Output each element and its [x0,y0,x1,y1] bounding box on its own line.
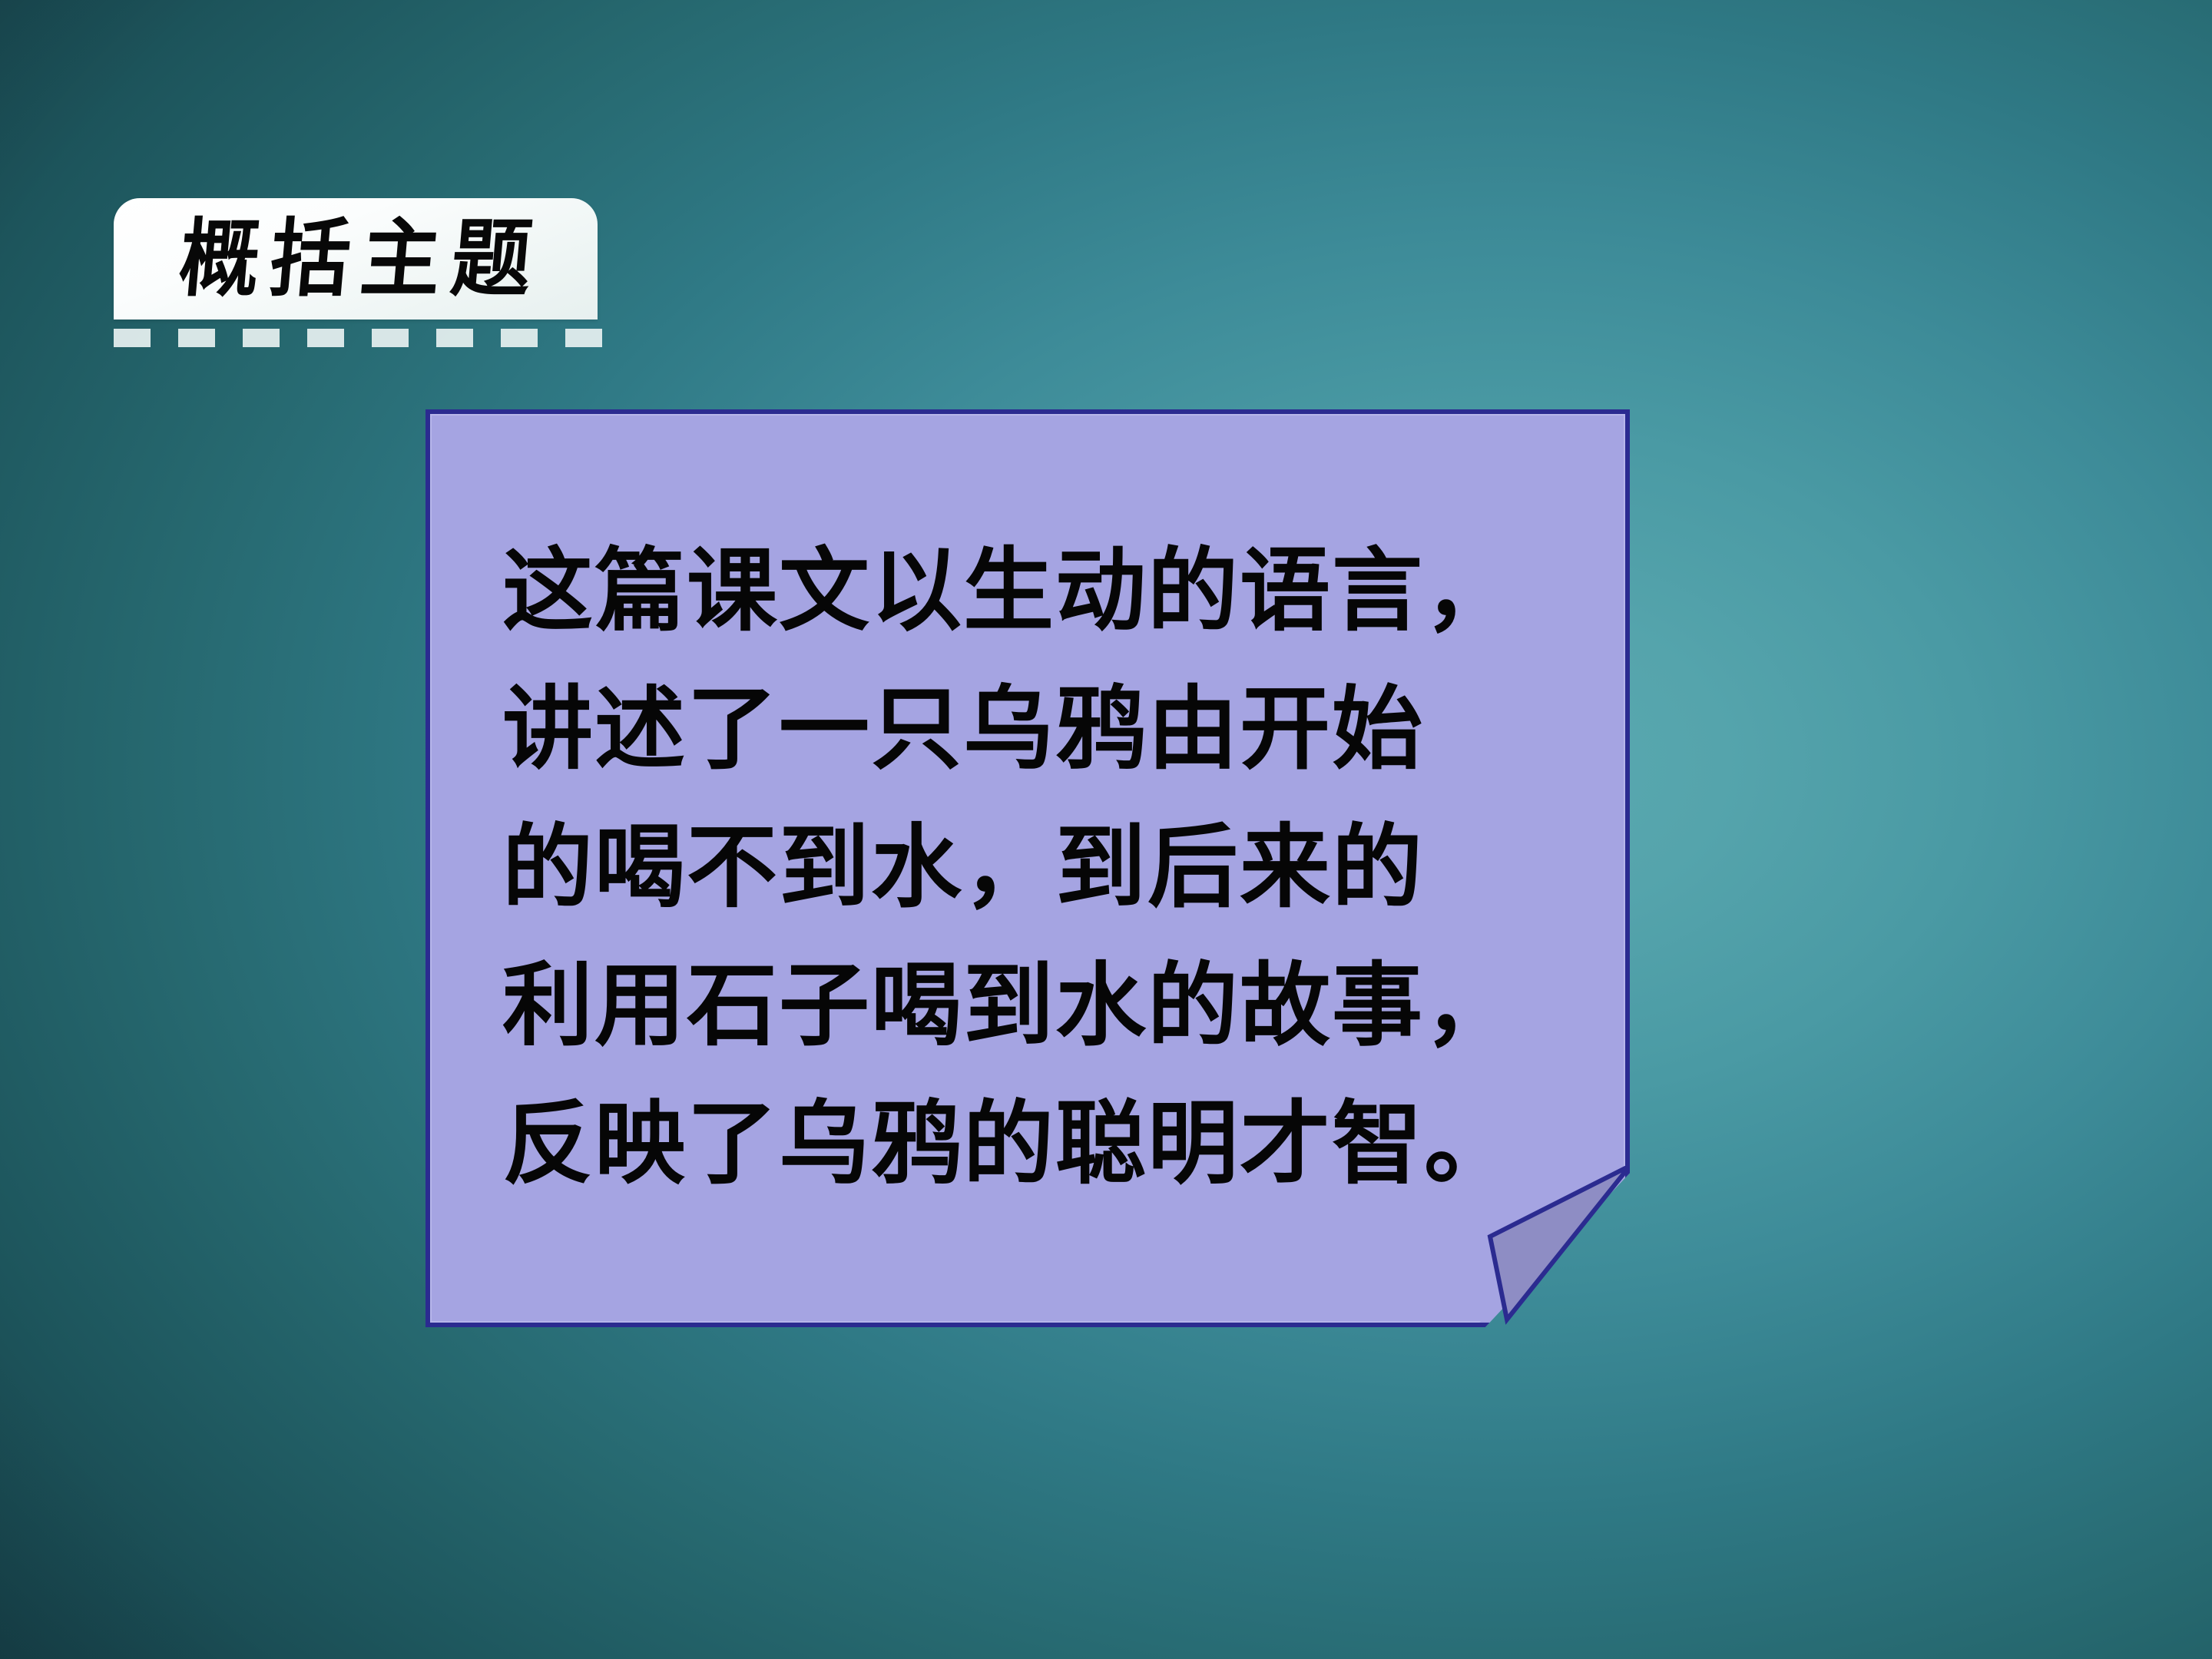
dash-segment [372,329,409,347]
presentation-slide: 概括主题 这篇课文以生动的语言， 讲述了一只乌鸦由开始 的喝不到水，到后来的 利… [0,0,2212,1659]
title-banner: 概括主题 [114,198,598,320]
summary-text-line: 讲述了一只乌鸦由开始 [502,660,1578,798]
dash-segment [178,329,215,347]
slide-title: 概括主题 [165,217,546,301]
summary-text-line: 这篇课文以生动的语言， [502,522,1578,660]
summary-text: 这篇课文以生动的语言， 讲述了一只乌鸦由开始 的喝不到水，到后来的 利用石子喝到… [502,522,1578,1213]
summary-note-card: 这篇课文以生动的语言， 讲述了一只乌鸦由开始 的喝不到水，到后来的 利用石子喝到… [426,409,1630,1327]
dash-segment [114,329,151,347]
summary-text-line: 反映了乌鸦的聪明才智。 [502,1075,1578,1213]
summary-text-line: 利用石子喝到水的故事， [502,936,1578,1075]
summary-text-line: 的喝不到水，到后来的 [502,798,1578,936]
title-dashed-underline [114,329,602,347]
dash-segment [436,329,473,347]
dash-segment [565,329,602,347]
dash-segment [307,329,344,347]
dash-segment [501,329,538,347]
dash-segment [243,329,280,347]
